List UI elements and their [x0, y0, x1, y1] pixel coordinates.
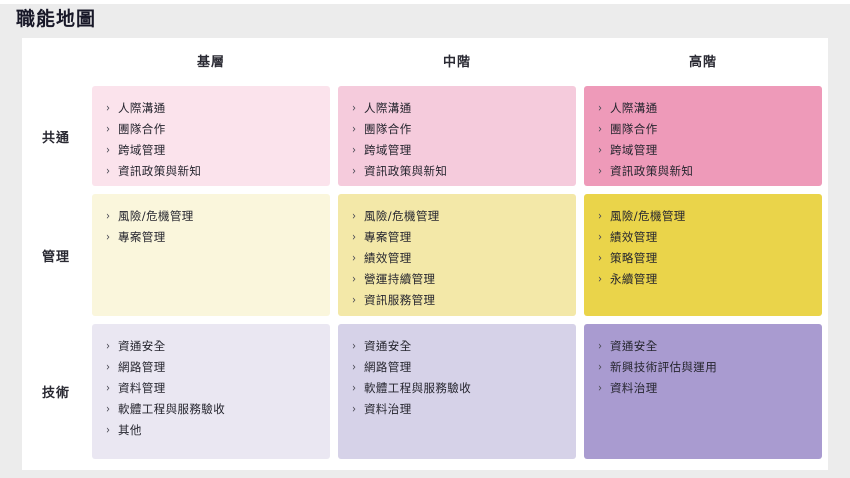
competency-item-label: 網路管理 [118, 357, 166, 378]
matrix-cell: ›人際溝通›團隊合作›跨域管理›資訊政策與新知 [92, 86, 330, 186]
competency-item[interactable]: ›人際溝通 [598, 98, 812, 119]
competency-item[interactable]: ›專案管理 [352, 227, 566, 248]
page-title: 職能地圖 [16, 4, 96, 34]
row-header-3: 技術 [28, 324, 84, 459]
competency-item-label: 專案管理 [118, 227, 166, 248]
competency-item[interactable]: ›其他 [106, 420, 320, 441]
competency-item-label: 績效管理 [364, 248, 412, 269]
competency-item-label: 新興技術評估與運用 [610, 357, 717, 378]
competency-item[interactable]: ›資料管理 [106, 378, 320, 399]
competency-item[interactable]: ›網路管理 [106, 357, 320, 378]
competency-item[interactable]: ›網路管理 [352, 357, 566, 378]
competency-item-label: 人際溝通 [118, 98, 166, 119]
competency-item[interactable]: ›資訊政策與新知 [598, 161, 812, 182]
competency-item-label: 風險/危機管理 [610, 206, 686, 227]
chevron-right-icon: › [106, 159, 118, 183]
competency-item-label: 資訊服務管理 [364, 290, 435, 311]
competency-item[interactable]: ›人際溝通 [352, 98, 566, 119]
competency-item[interactable]: ›績效管理 [598, 227, 812, 248]
competency-item-label: 團隊合作 [118, 119, 166, 140]
competency-item-label: 績效管理 [610, 227, 658, 248]
matrix-cell: ›資通安全›新興技術評估與運用›資料治理 [584, 324, 822, 459]
competency-item-label: 軟體工程與服務驗收 [364, 378, 471, 399]
matrix-cell: ›風險/危機管理›績效管理›策略管理›永續管理 [584, 194, 822, 316]
competency-item[interactable]: ›資通安全 [598, 336, 812, 357]
competency-item-label: 跨域管理 [364, 140, 412, 161]
matrix-corner [28, 42, 84, 78]
competency-item-label: 跨域管理 [118, 140, 166, 161]
competency-item[interactable]: ›軟體工程與服務驗收 [352, 378, 566, 399]
column-header-1: 基層 [92, 42, 330, 78]
chevron-right-icon: › [352, 159, 364, 183]
competency-item[interactable]: ›資訊政策與新知 [352, 161, 566, 182]
column-header-2: 中階 [338, 42, 576, 78]
competency-item-label: 資訊政策與新知 [118, 161, 201, 182]
competency-item-label: 資通安全 [364, 336, 412, 357]
matrix-cell: ›人際溝通›團隊合作›跨域管理›資訊政策與新知 [584, 86, 822, 186]
competency-item[interactable]: ›團隊合作 [352, 119, 566, 140]
competency-item[interactable]: ›跨域管理 [352, 140, 566, 161]
competency-item[interactable]: ›資通安全 [352, 336, 566, 357]
competency-item-label: 其他 [118, 420, 142, 441]
chevron-right-icon: › [352, 397, 364, 421]
matrix-cell: ›風險/危機管理›專案管理 [92, 194, 330, 316]
competency-item[interactable]: ›營運持續管理 [352, 269, 566, 290]
chevron-right-icon: › [106, 225, 118, 249]
competency-item[interactable]: ›新興技術評估與運用 [598, 357, 812, 378]
competency-item[interactable]: ›風險/危機管理 [598, 206, 812, 227]
column-header-3: 高階 [584, 42, 822, 78]
competency-item-label: 資訊政策與新知 [364, 161, 447, 182]
competency-item-label: 資通安全 [610, 336, 658, 357]
competency-item[interactable]: ›專案管理 [106, 227, 320, 248]
competency-item[interactable]: ›軟體工程與服務驗收 [106, 399, 320, 420]
competency-item-label: 風險/危機管理 [118, 206, 194, 227]
competency-item-label: 團隊合作 [610, 119, 658, 140]
competency-item[interactable]: ›永續管理 [598, 269, 812, 290]
competency-map-card: 基層中階高階共通›人際溝通›團隊合作›跨域管理›資訊政策與新知›人際溝通›團隊合… [22, 38, 828, 470]
competency-item[interactable]: ›風險/危機管理 [352, 206, 566, 227]
matrix-cell: ›風險/危機管理›專案管理›績效管理›營運持續管理›資訊服務管理 [338, 194, 576, 316]
competency-item[interactable]: ›資料治理 [598, 378, 812, 399]
competency-item[interactable]: ›跨域管理 [598, 140, 812, 161]
competency-item-label: 人際溝通 [610, 98, 658, 119]
competency-item-label: 軟體工程與服務驗收 [118, 399, 225, 420]
competency-item-label: 資訊政策與新知 [610, 161, 693, 182]
competency-item-label: 跨域管理 [610, 140, 658, 161]
competency-item[interactable]: ›資通安全 [106, 336, 320, 357]
competency-item[interactable]: ›人際溝通 [106, 98, 320, 119]
competency-item-label: 資料治理 [364, 399, 412, 420]
chevron-right-icon: › [598, 376, 610, 400]
competency-item[interactable]: ›策略管理 [598, 248, 812, 269]
competency-item[interactable]: ›資訊政策與新知 [106, 161, 320, 182]
competency-item[interactable]: ›團隊合作 [598, 119, 812, 140]
competency-item-label: 資通安全 [118, 336, 166, 357]
competency-item[interactable]: ›跨域管理 [106, 140, 320, 161]
competency-item-label: 永續管理 [610, 269, 658, 290]
competency-item-label: 人際溝通 [364, 98, 412, 119]
chevron-right-icon: › [106, 418, 118, 442]
matrix-cell: ›資通安全›網路管理›資料管理›軟體工程與服務驗收›其他 [92, 324, 330, 459]
competency-item-label: 網路管理 [364, 357, 412, 378]
competency-item[interactable]: ›資訊服務管理 [352, 290, 566, 311]
competency-item-label: 營運持續管理 [364, 269, 435, 290]
competency-item[interactable]: ›資料治理 [352, 399, 566, 420]
competency-item-label: 策略管理 [610, 248, 658, 269]
competency-matrix: 基層中階高階共通›人際溝通›團隊合作›跨域管理›資訊政策與新知›人際溝通›團隊合… [22, 38, 828, 470]
competency-item[interactable]: ›風險/危機管理 [106, 206, 320, 227]
competency-item[interactable]: ›績效管理 [352, 248, 566, 269]
chevron-right-icon: › [598, 159, 610, 183]
matrix-cell: ›人際溝通›團隊合作›跨域管理›資訊政策與新知 [338, 86, 576, 186]
competency-item[interactable]: ›團隊合作 [106, 119, 320, 140]
row-header-2: 管理 [28, 194, 84, 316]
competency-item-label: 專案管理 [364, 227, 412, 248]
top-strip [0, 0, 850, 4]
chevron-right-icon: › [598, 267, 610, 291]
row-header-1: 共通 [28, 86, 84, 186]
competency-item-label: 資料治理 [610, 378, 658, 399]
competency-item-label: 風險/危機管理 [364, 206, 440, 227]
competency-item-label: 資料管理 [118, 378, 166, 399]
chevron-right-icon: › [352, 288, 364, 312]
competency-item-label: 團隊合作 [364, 119, 412, 140]
matrix-cell: ›資通安全›網路管理›軟體工程與服務驗收›資料治理 [338, 324, 576, 459]
